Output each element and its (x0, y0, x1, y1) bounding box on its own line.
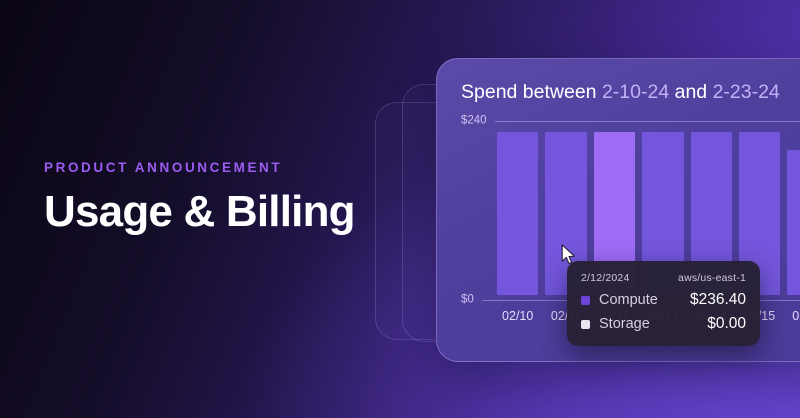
bar-slot[interactable] (787, 129, 800, 295)
tooltip-series-value: $0.00 (707, 315, 746, 333)
chart-start-date[interactable]: 2-10-24 (602, 81, 669, 103)
bar-slot[interactable] (497, 129, 538, 295)
y-axis-label-max: $240 (461, 115, 487, 127)
legend-swatch-storage-icon (581, 320, 590, 329)
y-axis-max-gridline: $240 (461, 121, 800, 122)
tooltip-header: 2/12/2024 aws/us-east-1 (581, 272, 746, 284)
promo-banner: PRODUCT ANNOUNCEMENT Usage & Billing Spe… (0, 0, 800, 418)
bar-02-10[interactable] (497, 132, 538, 296)
legend-swatch-compute-icon (581, 296, 590, 305)
tooltip-row-compute: Compute$236.40 (581, 291, 746, 309)
x-tick-02-10: 02/10 (497, 309, 538, 323)
gridline-top (495, 121, 800, 122)
bar-02-16[interactable] (787, 150, 800, 295)
chart-title-conjunction: and (675, 81, 708, 103)
page-title: Usage & Billing (44, 189, 424, 236)
tooltip-region: aws/us-east-1 (678, 272, 746, 284)
chart-end-date[interactable]: 2-23-24 (713, 81, 780, 103)
chart-title: Spend between 2-10-24 and 2-23-24 (461, 81, 780, 104)
chart-tooltip: 2/12/2024 aws/us-east-1 Compute$236.40St… (567, 261, 760, 346)
chart-title-prefix: Spend between (461, 81, 597, 103)
x-tick-02-16: 02/16 (787, 309, 800, 323)
y-axis-label-min: $0 (461, 294, 474, 306)
tooltip-series-name: Storage (599, 316, 650, 332)
tooltip-rows: Compute$236.40Storage$0.00 (581, 291, 746, 333)
tooltip-series-value: $236.40 (690, 291, 746, 309)
hero-copy: PRODUCT ANNOUNCEMENT Usage & Billing (44, 160, 424, 236)
eyebrow-label: PRODUCT ANNOUNCEMENT (44, 160, 424, 175)
tooltip-row-storage: Storage$0.00 (581, 315, 746, 333)
tooltip-date: 2/12/2024 (581, 272, 630, 284)
tooltip-series-name: Compute (599, 292, 658, 308)
